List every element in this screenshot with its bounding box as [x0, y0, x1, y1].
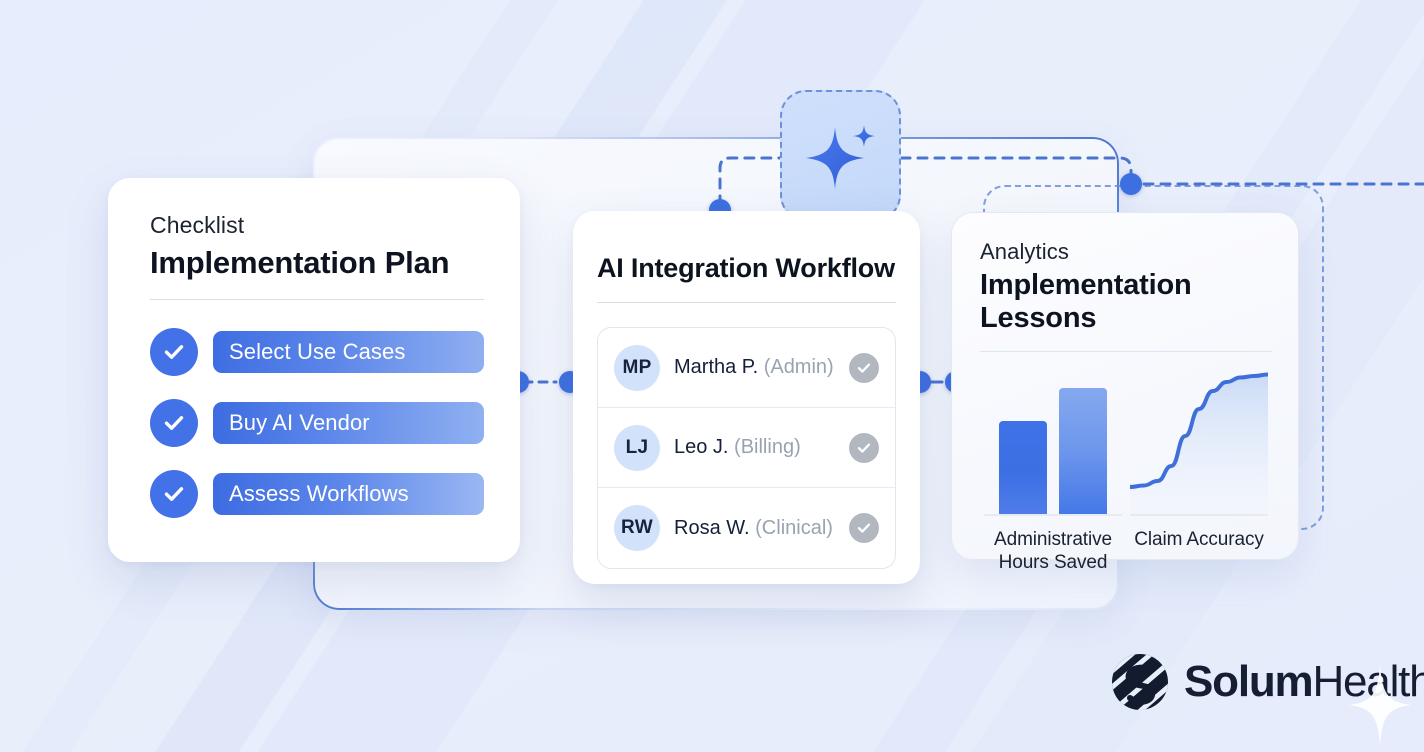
checklist-item-label[interactable]: Buy AI Vendor [213, 402, 484, 444]
avatar: MP [614, 345, 660, 391]
sparkle-icon [802, 117, 880, 195]
workflow-card: AI Integration Workflow MP Martha P. (Ad… [573, 211, 920, 584]
checklist-item[interactable]: Buy AI Vendor [150, 399, 484, 447]
list-item[interactable]: RW Rosa W. (Clinical) [598, 488, 895, 568]
avatar: RW [614, 505, 660, 551]
checklist-item[interactable]: Select Use Cases [150, 328, 484, 376]
divider [597, 302, 896, 303]
brand-logo: SolumHealth [1110, 652, 1424, 712]
checklist-item-label[interactable]: Select Use Cases [213, 331, 484, 373]
member-name-text: Leo J. [674, 436, 728, 458]
ai-badge[interactable] [780, 90, 901, 221]
list-item[interactable]: LJ Leo J. (Billing) [598, 408, 895, 488]
brand-name: SolumHealth [1184, 657, 1424, 707]
member-name: Leo J. (Billing) [674, 436, 849, 459]
graphic-canvas: Checklist Implementation Plan Select Use… [0, 0, 1424, 752]
member-name-text: Rosa W. [674, 517, 750, 539]
checklist-title: Implementation Plan [150, 245, 484, 281]
solum-circle-mark-icon [1110, 652, 1170, 712]
dot-ai-right [1120, 173, 1142, 195]
member-role: (Clinical) [755, 517, 833, 539]
workflow-title: AI Integration Workflow [597, 253, 896, 284]
check-circle-icon[interactable] [849, 353, 879, 383]
analytics-title: Implementation Lessons [980, 269, 1272, 335]
check-icon[interactable] [150, 399, 198, 447]
member-name: Rosa W. (Clinical) [674, 517, 849, 540]
bar-chart: Administrative Hours Saved [980, 366, 1126, 588]
bar [1059, 388, 1107, 514]
line-chart: Claim Accuracy [1126, 366, 1272, 588]
check-icon[interactable] [150, 328, 198, 376]
analytics-eyebrow: Analytics [980, 239, 1272, 265]
check-icon[interactable] [150, 470, 198, 518]
checklist-item-label[interactable]: Assess Workflows [213, 473, 484, 515]
checklist-eyebrow: Checklist [150, 212, 484, 239]
check-glyph [855, 519, 873, 537]
checklist-items: Select Use Cases Buy AI Vendor Assess Wo… [150, 328, 484, 518]
check-glyph [855, 359, 873, 377]
line-chart-plot [1130, 366, 1268, 516]
check-glyph [161, 410, 187, 436]
member-name-text: Martha P. [674, 356, 758, 378]
brand-name-thin: Health [1312, 657, 1424, 706]
check-glyph [855, 439, 873, 457]
analytics-charts: Administrative Hours Saved [980, 366, 1272, 588]
avatar: LJ [614, 425, 660, 471]
checklist-card: Checklist Implementation Plan Select Use… [108, 178, 520, 562]
divider [150, 299, 484, 300]
brand-name-bold: Solum [1184, 657, 1312, 706]
divider [980, 351, 1272, 352]
line-chart-svg [1130, 364, 1268, 514]
analytics-card: Analytics Implementation Lessons Adminis… [951, 212, 1299, 560]
line-chart-label: Claim Accuracy [1134, 528, 1264, 551]
bar-chart-label: Administrative Hours Saved [984, 528, 1122, 574]
member-role: (Billing) [734, 436, 801, 458]
member-role: (Admin) [764, 356, 834, 378]
check-glyph [161, 481, 187, 507]
bar-chart-plot [984, 366, 1122, 516]
check-circle-icon[interactable] [849, 433, 879, 463]
bar [999, 421, 1047, 514]
workflow-member-list: MP Martha P. (Admin) LJ Leo J. (Billing) [597, 327, 896, 569]
checklist-item[interactable]: Assess Workflows [150, 470, 484, 518]
check-glyph [161, 339, 187, 365]
member-name: Martha P. (Admin) [674, 356, 849, 379]
check-circle-icon[interactable] [849, 513, 879, 543]
list-item[interactable]: MP Martha P. (Admin) [598, 328, 895, 408]
